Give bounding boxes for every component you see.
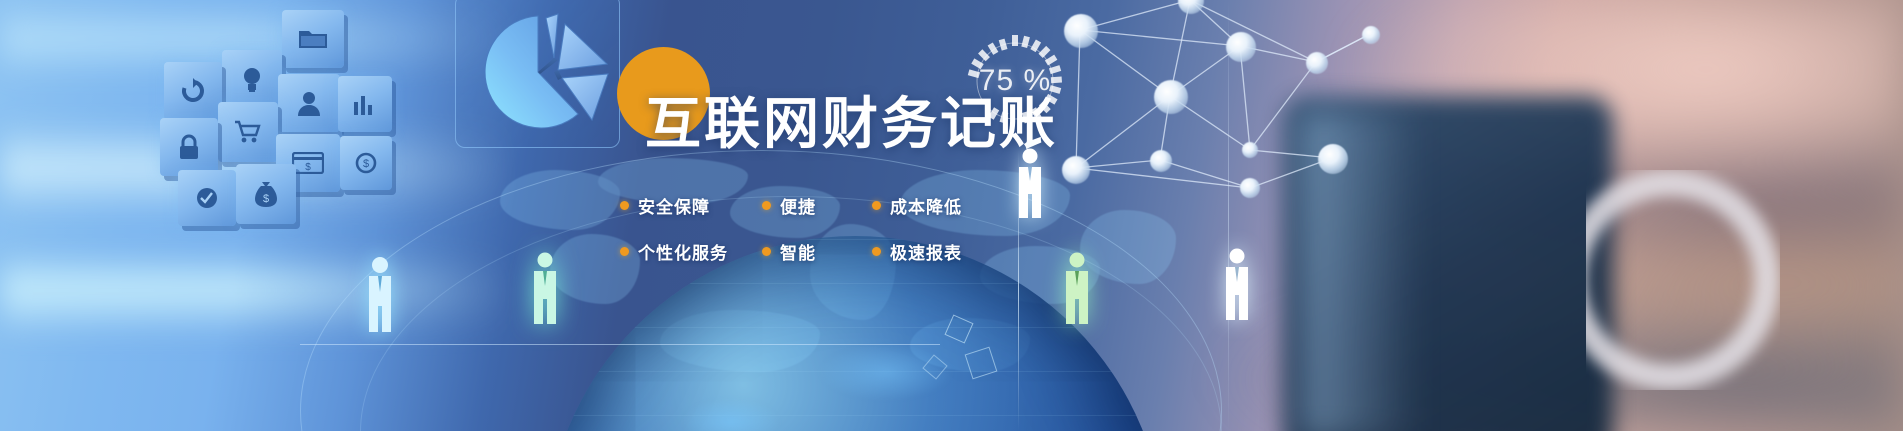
feature-item: 便捷 (762, 193, 872, 218)
cube-folder (282, 10, 344, 68)
cube-cart (218, 102, 278, 162)
person-silhouette-icon (1222, 248, 1252, 320)
pie-chart-svg (470, 2, 610, 142)
network-node (1154, 80, 1188, 114)
network-node (1242, 142, 1258, 158)
network-node (1150, 150, 1172, 172)
lock-icon (177, 134, 201, 160)
person-silhouette-icon (1015, 148, 1045, 218)
bullet-dot-icon (762, 247, 771, 256)
feature-item: 成本降低 (872, 193, 962, 218)
feature-label: 极速报表 (890, 239, 962, 264)
cube-lightbulb (222, 50, 282, 110)
network-node (1240, 178, 1260, 198)
feature-label: 安全保障 (638, 193, 710, 218)
bottom-hairline (300, 344, 940, 345)
folder-icon (298, 27, 328, 51)
pie-chart-icon (470, 2, 610, 142)
cube-money-bag: $ (236, 164, 296, 224)
network-node (1226, 32, 1256, 62)
svg-text:$: $ (363, 158, 369, 170)
feature-label: 智能 (780, 239, 816, 264)
feature-label: 个性化服务 (638, 239, 728, 264)
credit-card-icon: $ (292, 152, 324, 174)
bar-chart-icon (353, 92, 377, 116)
bullet-dot-icon (620, 247, 629, 256)
person-silhouette-icon (364, 256, 396, 332)
bullet-dot-icon (872, 201, 881, 210)
cube-recycle (164, 62, 222, 120)
icon-cube-cluster: $ $ $ (160, 0, 460, 244)
network-node (1362, 26, 1380, 44)
recycle-icon (180, 78, 206, 104)
shopping-cart-icon (234, 120, 262, 144)
cube-user (278, 74, 340, 132)
network-node (1306, 52, 1328, 74)
feature-label: 成本降低 (890, 193, 962, 218)
coffee-cup-handle-icon (1560, 170, 1780, 390)
user-icon (296, 90, 322, 116)
feature-item: 个性化服务 (620, 239, 762, 264)
bullet-dot-icon (762, 201, 771, 210)
network-node (1062, 156, 1090, 184)
cube-bar-chart (338, 76, 392, 132)
finance-banner: $ $ $ (0, 0, 1903, 431)
feature-item: 安全保障 (620, 193, 762, 218)
svg-text:$: $ (305, 162, 311, 173)
feature-list: 安全保障 便捷 成本降低 个性化服务 智能 极速报表 (620, 182, 962, 274)
dollar-refresh-icon: $ (354, 151, 378, 175)
lightbulb-icon (241, 66, 263, 94)
person-silhouette-icon (530, 252, 560, 324)
person-silhouette-icon (1062, 252, 1092, 324)
bullet-dot-icon (620, 201, 629, 210)
network-node (1318, 144, 1348, 174)
feature-label: 便捷 (780, 193, 816, 218)
cube-lock (160, 118, 218, 176)
svg-text:$: $ (263, 193, 269, 205)
network-node (1064, 14, 1098, 48)
bullet-dot-icon (872, 247, 881, 256)
feature-item: 智能 (762, 239, 872, 264)
clock-check-icon (195, 186, 219, 210)
cube-dollar-refresh: $ (340, 136, 392, 190)
money-bag-icon: $ (254, 180, 278, 208)
network-graph-icon (1040, 0, 1400, 198)
feature-item: 极速报表 (872, 239, 962, 264)
cube-clock-check (178, 170, 236, 226)
